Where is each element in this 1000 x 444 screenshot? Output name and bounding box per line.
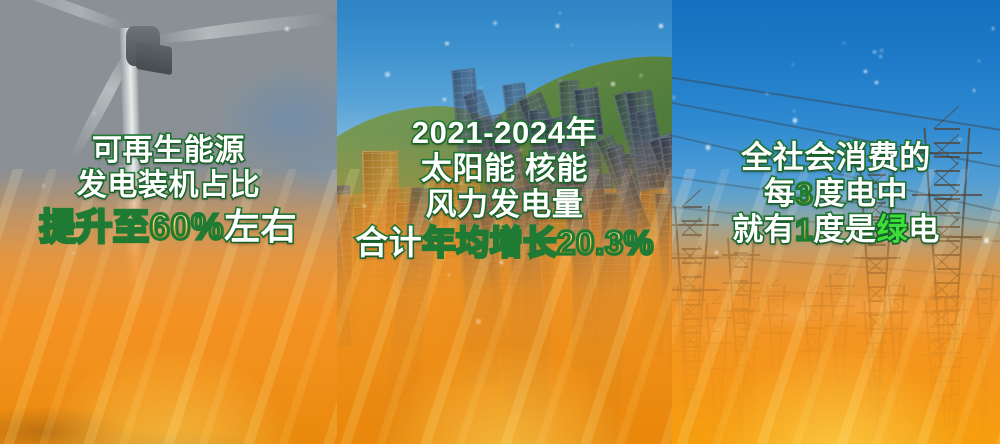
- panel-solar: 2021-2024年 太阳能 核能 风力发电量 合计年均增长20.3%: [337, 0, 672, 444]
- bottom-glow: [337, 294, 672, 444]
- caption-prefix: 每: [764, 176, 796, 211]
- panel-wind: 可再生能源 发电装机占比 提升至60%左右: [0, 0, 337, 444]
- caption-suffix: 度电中: [813, 176, 908, 211]
- caption-line-1: 可再生能源: [0, 134, 337, 169]
- caption-highlight-percent: 提升至60%: [40, 206, 224, 247]
- infographic-poster: 可再生能源 发电装机占比 提升至60%左右 2021-2024年 太阳能 核能 …: [0, 0, 1000, 444]
- caption-highlight-green: 绿: [877, 212, 909, 247]
- caption-highlight-one: 1: [795, 212, 813, 247]
- caption-line-3: 风力发电量: [337, 187, 672, 223]
- caption-line-1: 全社会消费的: [672, 140, 1000, 176]
- caption-mid: 度是: [813, 212, 876, 247]
- caption-prefix: 就有: [732, 212, 795, 247]
- caption-line-3: 提升至60%左右: [0, 206, 337, 248]
- bottom-glow: [0, 294, 337, 444]
- caption-highlight-three: 3: [795, 176, 813, 211]
- caption-line-2: 发电装机占比: [0, 169, 337, 204]
- panel-wind-caption: 可再生能源 发电装机占比 提升至60%左右: [0, 134, 337, 247]
- caption-line-4: 合计年均增长20.3%: [337, 224, 672, 262]
- caption-suffix: 左右: [224, 206, 297, 247]
- caption-line-2: 太阳能 核能: [337, 151, 672, 187]
- panel-grid: 全社会消费的 每3度电中 就有1度是绿电: [672, 0, 1000, 444]
- caption-line-3: 就有1度是绿电: [672, 212, 1000, 248]
- caption-highlight-growth: 年均增长20.3%: [422, 224, 654, 261]
- caption-line-2: 每3度电中: [672, 176, 1000, 212]
- caption-suffix: 电: [908, 212, 940, 247]
- caption-prefix: 合计: [355, 224, 422, 261]
- panel-grid-caption: 全社会消费的 每3度电中 就有1度是绿电: [672, 140, 1000, 248]
- bottom-glow: [672, 294, 1000, 444]
- panel-solar-caption: 2021-2024年 太阳能 核能 风力发电量 合计年均增长20.3%: [337, 115, 672, 262]
- caption-line-1: 2021-2024年: [337, 115, 672, 151]
